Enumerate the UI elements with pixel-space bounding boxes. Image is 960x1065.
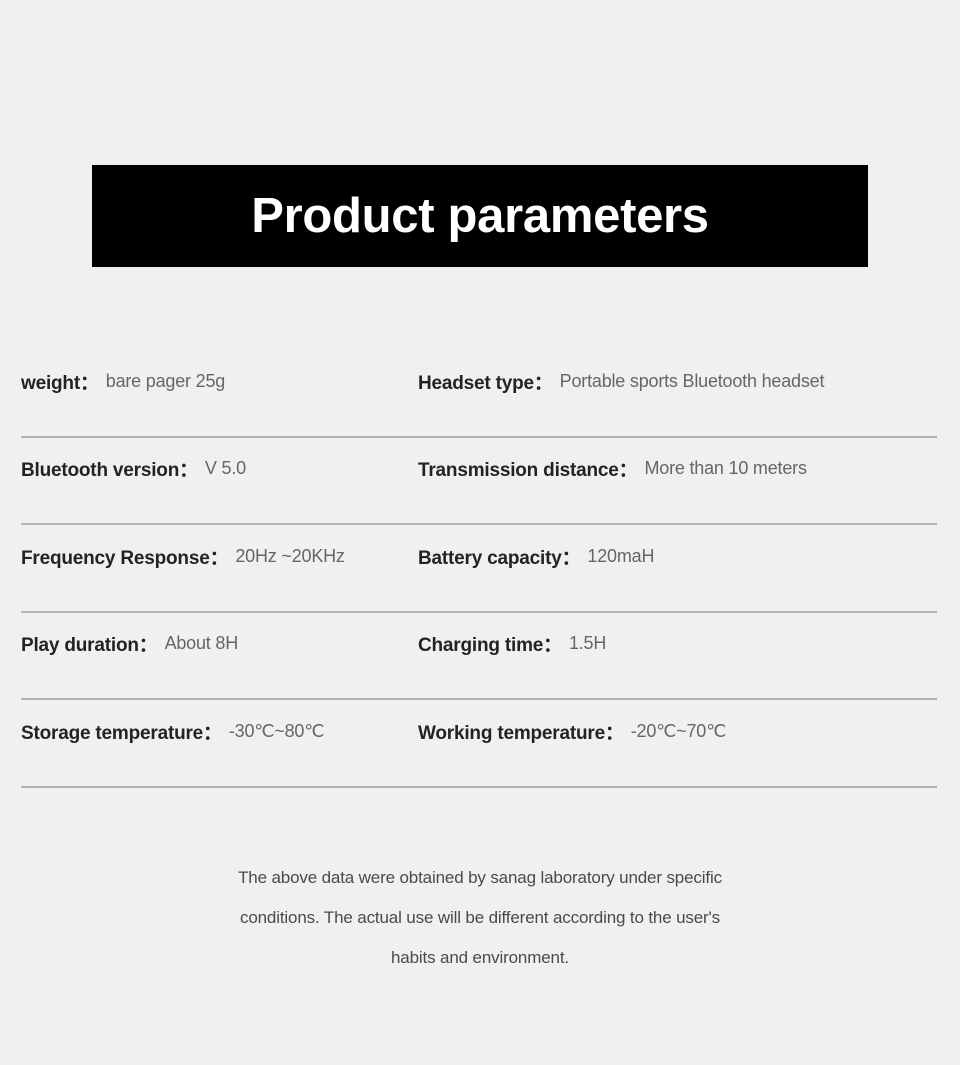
spec-cell-working-temperature: Working temperature： -20℃~70℃ xyxy=(418,700,726,762)
spec-value: More than 10 meters xyxy=(644,458,806,479)
spec-label: Play duration： xyxy=(21,630,158,657)
spec-label: Headset type： xyxy=(418,368,553,395)
spec-cell-bluetooth-version: Bluetooth version： V 5.0 xyxy=(21,438,246,500)
disclaimer-line: conditions. The actual use will be diffe… xyxy=(0,898,960,938)
spec-cell-transmission-distance: Transmission distance： More than 10 mete… xyxy=(418,438,807,500)
spec-value: Portable sports Bluetooth headset xyxy=(560,371,825,392)
disclaimer-line: habits and environment. xyxy=(0,938,960,978)
spec-label: Working temperature： xyxy=(418,718,624,745)
table-row: Storage temperature： -30℃~80℃ Working te… xyxy=(0,700,960,788)
spec-value: About 8H xyxy=(165,633,238,654)
spec-label: Transmission distance： xyxy=(418,455,637,482)
spec-value: bare pager 25g xyxy=(106,371,225,392)
spec-label: Battery capacity： xyxy=(418,543,580,570)
spec-value: 120maH xyxy=(587,546,654,567)
spec-cell-battery-capacity: Battery capacity： 120maH xyxy=(418,525,654,587)
spec-cell-charging-time: Charging time： 1.5H xyxy=(418,613,606,675)
spec-label: Charging time： xyxy=(418,630,562,657)
spec-value: 20Hz ~20KHz xyxy=(235,546,344,567)
page-title-banner: Product parameters xyxy=(92,165,868,267)
spec-cell-weight: weight： bare pager 25g xyxy=(21,350,225,412)
specifications-table: weight： bare pager 25g Headset type： Por… xyxy=(0,350,960,788)
spec-cell-storage-temperature: Storage temperature： -30℃~80℃ xyxy=(21,700,324,762)
page-title: Product parameters xyxy=(251,192,709,241)
disclaimer-note: The above data were obtained by sanag la… xyxy=(0,858,960,978)
spec-cell-headset-type: Headset type： Portable sports Bluetooth … xyxy=(418,350,824,412)
table-row: Frequency Response： 20Hz ~20KHz Battery … xyxy=(0,525,960,613)
spec-label: weight： xyxy=(21,368,99,395)
spec-value: -30℃~80℃ xyxy=(229,721,324,742)
spec-value: V 5.0 xyxy=(205,458,246,479)
product-parameters-page: Product parameters weight： bare pager 25… xyxy=(0,0,960,1065)
disclaimer-line: The above data were obtained by sanag la… xyxy=(0,858,960,898)
row-divider xyxy=(21,786,937,788)
spec-label: Bluetooth version： xyxy=(21,455,198,482)
spec-label: Frequency Response： xyxy=(21,543,228,570)
spec-value: -20℃~70℃ xyxy=(631,721,726,742)
table-row: Play duration： About 8H Charging time： 1… xyxy=(0,613,960,701)
spec-cell-frequency-response: Frequency Response： 20Hz ~20KHz xyxy=(21,525,345,587)
spec-value: 1.5H xyxy=(569,633,606,654)
spec-label: Storage temperature： xyxy=(21,718,222,745)
table-row: Bluetooth version： V 5.0 Transmission di… xyxy=(0,438,960,526)
spec-cell-play-duration: Play duration： About 8H xyxy=(21,613,238,675)
table-row: weight： bare pager 25g Headset type： Por… xyxy=(0,350,960,438)
